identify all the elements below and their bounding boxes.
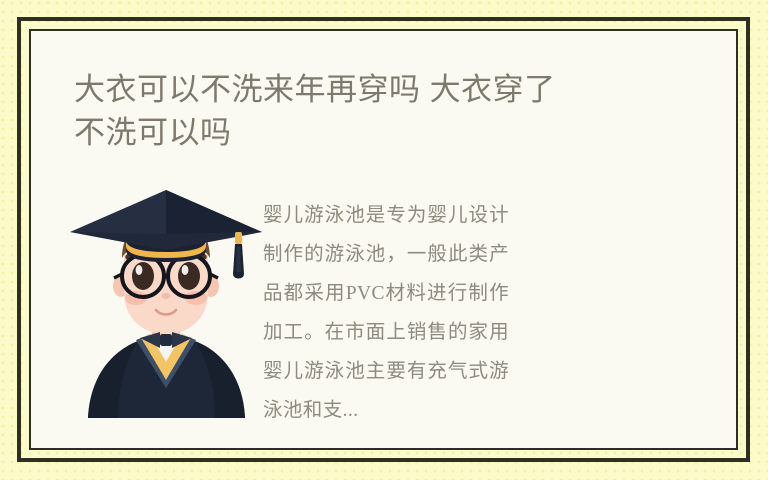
page-title: 大衣可以不洗来年再穿吗 大衣穿了 不洗可以吗 [74,68,674,154]
nose [162,293,171,299]
article-summary-text: 婴儿游泳池是专为婴儿设计制作的游泳池，一般此类产品都采用PVC材料进行制作加工。… [263,196,509,430]
card-content: 大衣可以不洗来年再穿吗 大衣穿了 不洗可以吗 [31,31,736,448]
cap-tassel [233,232,244,279]
page-canvas: 大衣可以不洗来年再穿吗 大衣穿了 不洗可以吗 [0,0,768,480]
graduation-cap-board [70,190,262,250]
card-inner-frame: 大衣可以不洗来年再穿吗 大衣穿了 不洗可以吗 [29,29,738,450]
card-outer-frame: 大衣可以不洗来年再穿吗 大衣穿了 不洗可以吗 [17,17,750,462]
graduate-boy-illustration [64,188,269,418]
